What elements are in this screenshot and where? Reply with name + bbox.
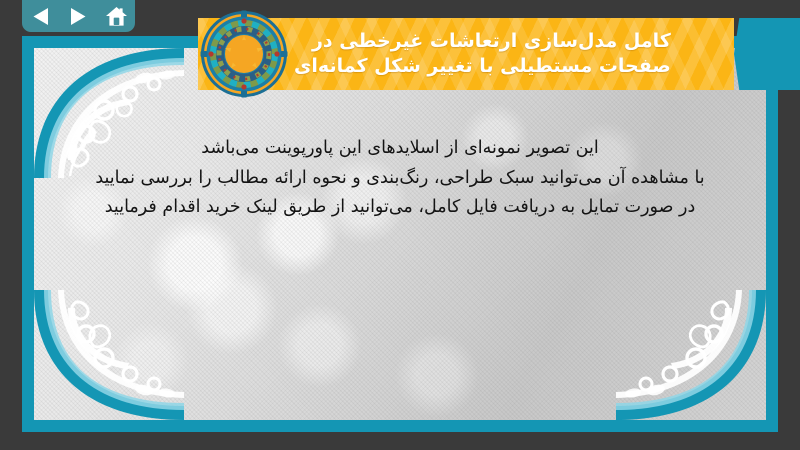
body-line-2: با مشاهده آن می‌توانید سبک طراحی، رنگ‌بن…	[60, 170, 740, 188]
slide-content-area: این تصویر نمونه‌ای از اسلایدهای این پاور…	[34, 48, 766, 420]
body-line-1: این تصویر نمونه‌ای از اسلایدهای این پاور…	[60, 140, 740, 158]
slide-viewer: این تصویر نمونه‌ای از اسلایدهای این پاور…	[0, 0, 800, 450]
background-texture	[34, 48, 766, 420]
arabesque-corner-bottom-right-icon	[616, 290, 766, 420]
slide-frame: این تصویر نمونه‌ای از اسلایدهای این پاور…	[22, 36, 778, 432]
triangle-right-icon	[70, 7, 87, 26]
title-banner: کامل مدل‌سازی ارتعاشات غیرخطی در صفحات م…	[198, 18, 800, 90]
slide-title: کامل مدل‌سازی ارتعاشات غیرخطی در صفحات م…	[294, 29, 671, 79]
banner-body: کامل مدل‌سازی ارتعاشات غیرخطی در صفحات م…	[198, 18, 734, 90]
home-button[interactable]	[101, 3, 131, 29]
body-line-3: در صورت تمایل به دریافت فایل کامل، می‌تو…	[60, 199, 740, 217]
navigation-bar	[22, 0, 135, 32]
triangle-left-icon	[32, 7, 49, 26]
arabesque-corner-bottom-left-icon	[34, 290, 184, 420]
banner-chevron-shape	[734, 18, 800, 90]
next-slide-button[interactable]	[63, 3, 93, 29]
persian-medallion-icon	[200, 10, 288, 98]
previous-slide-button[interactable]	[26, 3, 56, 29]
home-icon	[105, 6, 128, 27]
slide-body-text: این تصویر نمونه‌ای از اسلایدهای این پاور…	[60, 140, 740, 217]
